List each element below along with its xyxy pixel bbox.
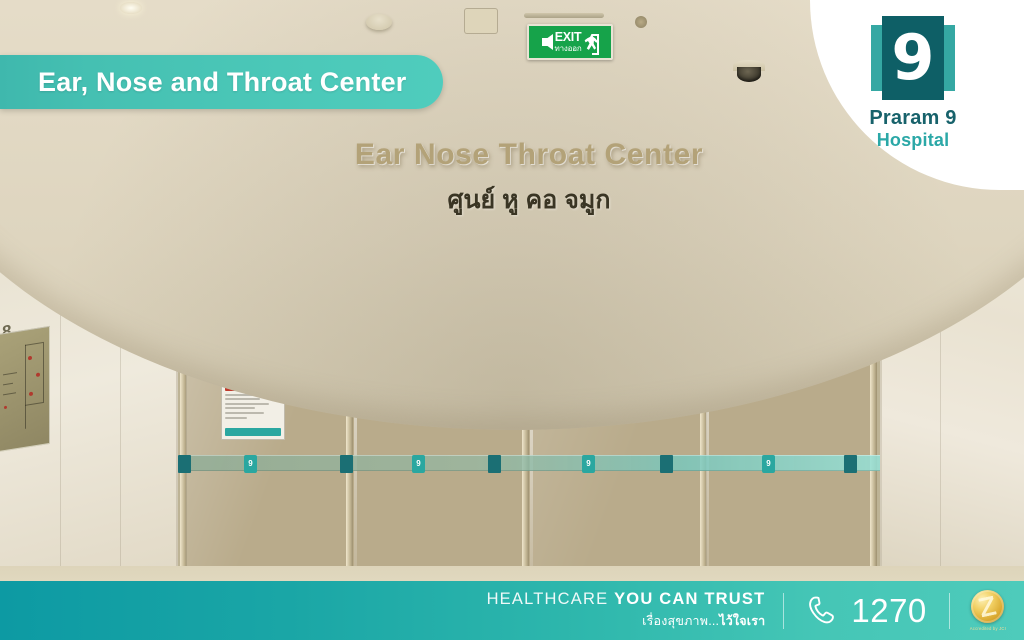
signage-photo-card: AUTO Ear Nose Throat Center ศูนย์ หู คอ … <box>0 0 1024 640</box>
center-sign-thai: ศูนย์ หู คอ จมูก <box>178 180 880 220</box>
center-sign-english: Ear Nose Throat Center <box>178 138 880 172</box>
band-logo-marker: 9 <box>244 455 257 473</box>
phone-block[interactable]: 1270 <box>784 594 948 628</box>
hospital-logo[interactable]: 9 Praram 9 Hospital <box>838 16 988 151</box>
dome-camera-icon <box>730 60 768 82</box>
footer-bar: HEALTHCARE YOU CAN TRUST เรื่องสุขภาพ...… <box>0 581 1024 640</box>
tagline-english-bold: YOU CAN TRUST <box>614 590 765 608</box>
tagline-thai-bold: ไว้ใจเรา <box>719 614 765 628</box>
logo-numeral: 9 <box>871 16 955 100</box>
tagline-thai-light: เรื่องสุขภาพ... <box>642 614 719 628</box>
accreditation-badge: Accredited by JCI <box>950 590 1012 631</box>
ac-vent <box>524 13 604 18</box>
logo-subtitle: Hospital <box>838 130 988 151</box>
band-logo-marker: 9 <box>412 455 425 473</box>
badge-caption: Accredited by JCI <box>970 626 1006 631</box>
glass-safety-band: 9 9 9 9 <box>178 455 880 471</box>
tagline-block: HEALTHCARE YOU CAN TRUST เรื่องสุขภาพ...… <box>487 590 784 631</box>
tagline-thai: เรื่องสุขภาพ...ไว้ใจเรา <box>642 611 765 631</box>
ceiling-downlight <box>464 8 498 34</box>
tagline-english: HEALTHCARE YOU CAN TRUST <box>487 590 766 609</box>
exit-sign: EXIT ทางออก <box>527 24 613 60</box>
sprinkler-head-icon <box>635 16 647 28</box>
exit-label-thai: ทางออก <box>555 45 582 53</box>
phone-number: 1270 <box>851 594 926 627</box>
tagline-english-light: HEALTHCARE <box>487 590 609 608</box>
fire-escape-plan <box>0 326 50 452</box>
band-logo-marker: 9 <box>582 455 595 473</box>
band-logo-marker: 9 <box>762 455 775 473</box>
logo-mark: 9 <box>871 16 955 100</box>
gold-medal-icon <box>971 590 1004 623</box>
phone-icon <box>806 594 840 628</box>
running-person-icon <box>583 34 598 51</box>
ceiling-downlight <box>120 2 142 14</box>
smoke-detector-icon <box>366 14 392 30</box>
arrow-left-icon <box>542 34 553 50</box>
title-banner: Ear, Nose and Throat Center <box>0 55 443 109</box>
page-title: Ear, Nose and Throat Center <box>38 67 407 98</box>
exit-label: EXIT <box>555 31 582 44</box>
logo-name: Praram 9 <box>838 107 988 130</box>
